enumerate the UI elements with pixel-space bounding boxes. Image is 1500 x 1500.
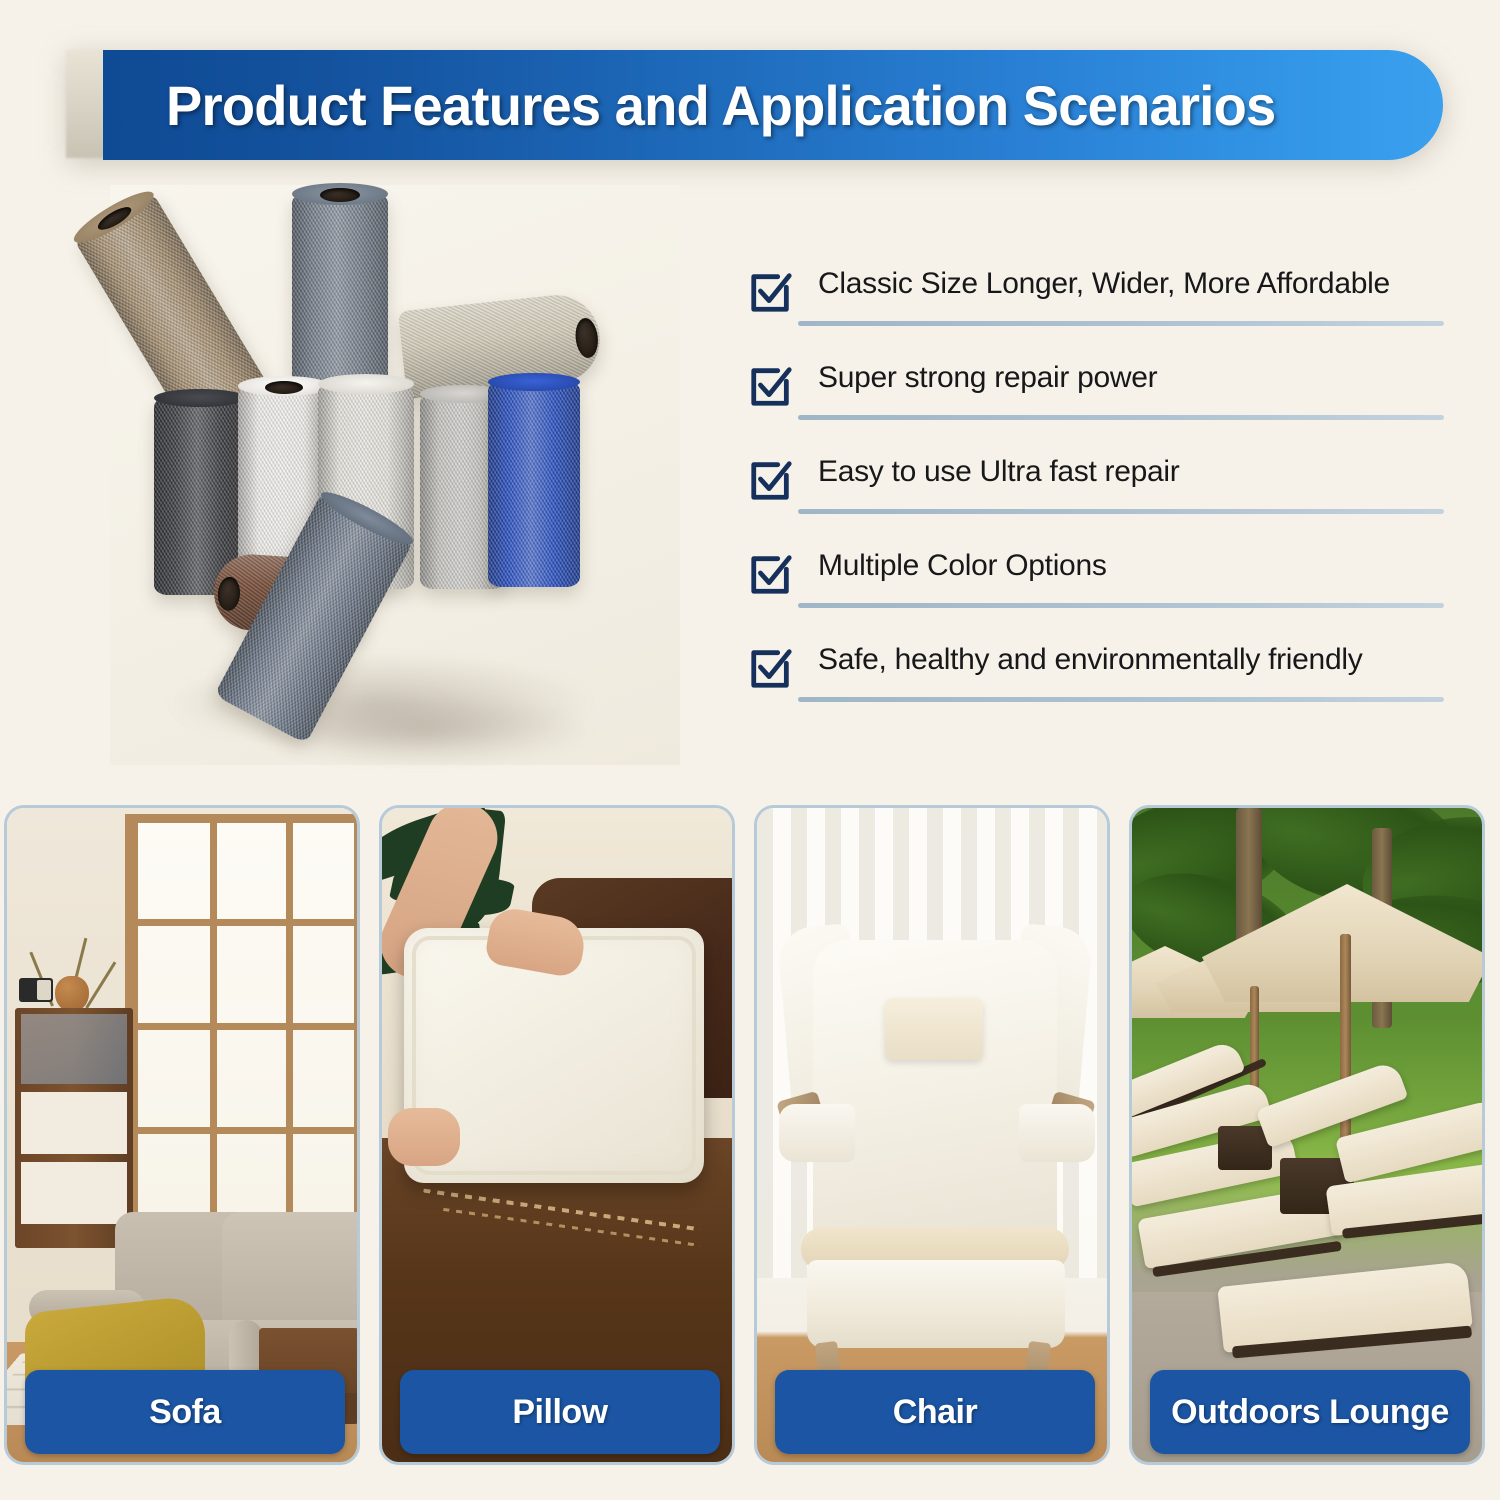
scenario-card-outdoors-lounge[interactable]: Outdoors Lounge xyxy=(1129,805,1485,1465)
feature-divider xyxy=(798,509,1444,514)
feature-item: Safe, healthy and environmentally friend… xyxy=(740,631,1460,725)
scene-photo-pillow xyxy=(382,808,732,1462)
header-banner: Product Features and Application Scenari… xyxy=(103,50,1443,160)
checkbox-checked-icon xyxy=(748,645,794,691)
feature-label: Multiple Color Options xyxy=(818,549,1458,583)
feature-item: Super strong repair power xyxy=(740,349,1460,443)
scenario-card-chair[interactable]: Chair xyxy=(754,805,1110,1465)
scenario-label-outdoors-lounge: Outdoors Lounge xyxy=(1150,1370,1470,1454)
feature-divider xyxy=(798,603,1444,608)
page-title: Product Features and Application Scenari… xyxy=(103,73,1275,138)
scenario-label-pillow: Pillow xyxy=(400,1370,720,1454)
feature-item: Multiple Color Options xyxy=(740,537,1460,631)
feature-divider xyxy=(798,321,1444,326)
scenario-card-pillow[interactable]: Pillow xyxy=(379,805,735,1465)
feature-label: Safe, healthy and environmentally friend… xyxy=(818,643,1458,677)
scenario-card-sofa[interactable]: Sofa xyxy=(4,805,360,1465)
scene-photo-chair xyxy=(757,808,1107,1462)
header-banner-area: Product Features and Application Scenari… xyxy=(0,0,1500,200)
checkbox-checked-icon xyxy=(748,551,794,597)
feature-list: Classic Size Longer, Wider, More Afforda… xyxy=(740,255,1460,725)
checkbox-checked-icon xyxy=(748,269,794,315)
checkbox-checked-icon xyxy=(748,363,794,409)
tape-roll-royal-blue xyxy=(488,381,580,587)
checkbox-checked-icon xyxy=(748,457,794,503)
product-photo-fabric-repair-tape-rolls xyxy=(110,185,680,765)
feature-label: Easy to use Ultra fast repair xyxy=(818,455,1458,489)
scenario-label-chair: Chair xyxy=(775,1370,1095,1454)
scenario-card-grid: Sofa Pillow xyxy=(0,805,1500,1485)
scenario-label-sofa: Sofa xyxy=(25,1370,345,1454)
feature-label: Classic Size Longer, Wider, More Afforda… xyxy=(818,267,1458,301)
feature-divider xyxy=(798,415,1444,420)
feature-divider xyxy=(798,697,1444,702)
feature-item: Classic Size Longer, Wider, More Afforda… xyxy=(740,255,1460,349)
scene-photo-sofa xyxy=(7,808,357,1462)
feature-label: Super strong repair power xyxy=(818,361,1458,395)
feature-item: Easy to use Ultra fast repair xyxy=(740,443,1460,537)
scene-photo-outdoors-lounge xyxy=(1132,808,1482,1462)
